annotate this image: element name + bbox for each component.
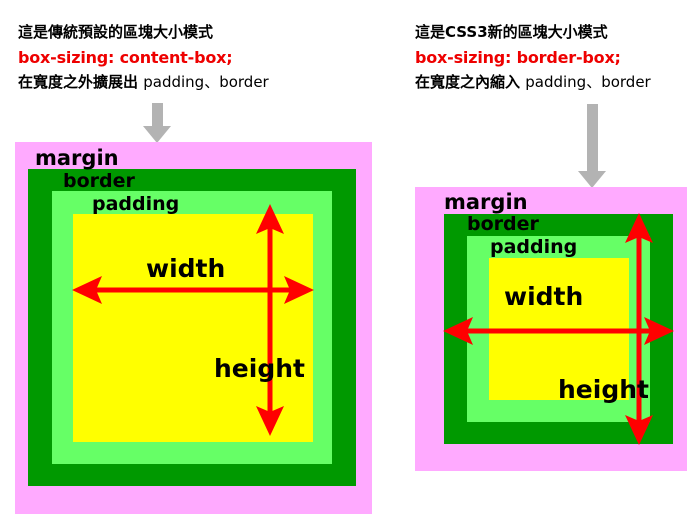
- caption-right-line-1: 這是CSS3新的區塊大小模式: [415, 20, 651, 45]
- padding-label: padding: [92, 193, 179, 215]
- caption-right-line-3-thin: padding、border: [525, 73, 650, 91]
- height-label: height: [558, 375, 649, 404]
- caption-border-box: 這是CSS3新的區塊大小模式 box-sizing: border-box; 在…: [415, 20, 651, 95]
- height-label: height: [214, 354, 305, 383]
- arrow-stem: [152, 103, 163, 126]
- caption-left-line-3-thin: padding、border: [143, 73, 268, 91]
- double-headed-vertical-arrow-icon: [622, 213, 656, 445]
- margin-label: margin: [35, 146, 119, 170]
- caption-left-code: box-sizing: content-box;: [18, 45, 269, 70]
- margin-label: margin: [444, 190, 528, 214]
- caption-right-code: box-sizing: border-box;: [415, 45, 651, 70]
- diagram-canvas: 這是傳統預設的區塊大小模式 box-sizing: content-box; 在…: [0, 0, 700, 514]
- arrow-stem: [587, 104, 598, 171]
- caption-left-line-3-bold: 在寬度之外擴展出: [18, 73, 138, 91]
- caption-left-line-1: 這是傳統預設的區塊大小模式: [18, 20, 269, 45]
- arrow-head: [143, 126, 171, 143]
- down-arrow-icon: [143, 103, 172, 143]
- caption-right-line-3: 在寬度之內縮入 padding、border: [415, 70, 651, 95]
- caption-content-box: 這是傳統預設的區塊大小模式 box-sizing: content-box; 在…: [18, 20, 269, 95]
- double-headed-vertical-arrow-icon: [253, 204, 287, 436]
- border-label: border: [467, 213, 539, 235]
- arrow-head: [578, 171, 606, 188]
- box-model-border-box: margin border padding width height: [415, 187, 687, 471]
- width-label: width: [146, 254, 225, 283]
- down-arrow-icon: [578, 104, 607, 188]
- width-label: width: [504, 282, 583, 311]
- padding-label: padding: [490, 236, 577, 258]
- caption-right-line-3-bold: 在寬度之內縮入: [415, 73, 520, 91]
- border-label: border: [63, 170, 135, 192]
- caption-left-line-3: 在寬度之外擴展出 padding、border: [18, 70, 269, 95]
- box-model-content-box: margin border padding width height: [15, 142, 372, 514]
